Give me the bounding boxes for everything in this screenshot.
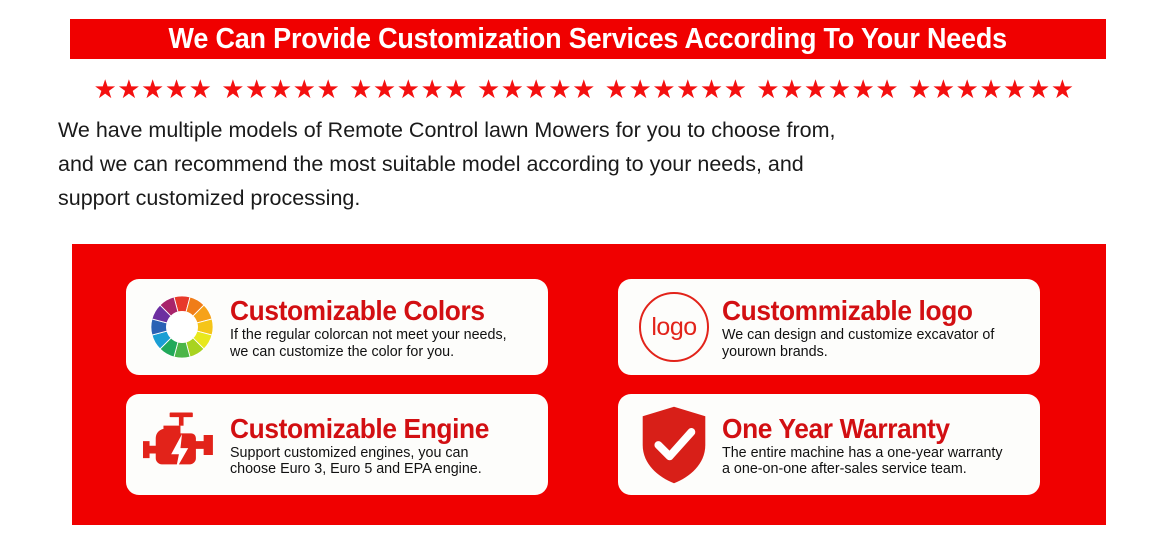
card-description: We can design and customize excavator of… — [722, 327, 1030, 360]
card-desc-line-1: Support customized engines, you can — [230, 445, 538, 462]
feature-card-one-year-warranty[interactable]: One Year Warranty The entire machine has… — [618, 394, 1040, 495]
card-title: Custommizable logo — [722, 296, 1012, 325]
logo-circle-icon: logo — [632, 288, 716, 366]
card-description: Support customized engines, you can choo… — [230, 445, 538, 478]
intro-line-2: and we can recommend the most suitable m… — [58, 147, 1120, 181]
card-desc-line-2: a one-on-one after-sales service team. — [722, 461, 1030, 478]
intro-line-1: We have multiple models of Remote Contro… — [58, 113, 1120, 147]
title-banner-text: We Can Provide Customization Services Ac… — [169, 24, 1007, 54]
star-rating-divider: ★★★★★ ★★★★★ ★★★★★ ★★★★★ ★★★★★★ ★★★★★★ ★★… — [0, 76, 1168, 104]
feature-card-customizable-engine[interactable]: Customizable Engine Support customized e… — [126, 394, 548, 495]
card-description: If the regular colorcan not meet your ne… — [230, 327, 538, 360]
card-title: Customizable Colors — [230, 296, 520, 325]
feature-card-grid: Customizable Colors If the regular color… — [126, 279, 1028, 492]
card-body: Custommizable logo We can design and cus… — [722, 294, 1030, 360]
card-desc-line-2: choose Euro 3, Euro 5 and EPA engine. — [230, 461, 538, 478]
card-desc-line-1: If the regular colorcan not meet your ne… — [230, 327, 538, 344]
feature-card-custommizable-logo[interactable]: logo Custommizable logo We can design an… — [618, 279, 1040, 375]
shield-check-icon — [632, 406, 716, 484]
card-desc-line-1: The entire machine has a one-year warran… — [722, 445, 1030, 462]
intro-line-3: support customized processing. — [58, 181, 1120, 215]
card-body: One Year Warranty The entire machine has… — [722, 412, 1030, 478]
card-desc-line-2: we can customize the color for you. — [230, 344, 538, 361]
card-description: The entire machine has a one-year warran… — [722, 445, 1030, 478]
logo-icon-label: logo — [651, 313, 696, 342]
card-body: Customizable Engine Support customized e… — [230, 412, 538, 478]
title-banner: We Can Provide Customization Services Ac… — [70, 19, 1106, 59]
feature-panel: Customizable Colors If the regular color… — [72, 244, 1106, 525]
card-body: Customizable Colors If the regular color… — [230, 294, 538, 360]
card-title: One Year Warranty — [722, 414, 1012, 443]
feature-card-customizable-colors[interactable]: Customizable Colors If the regular color… — [126, 279, 548, 375]
card-desc-line-2: yourown brands. — [722, 344, 1030, 361]
card-title: Customizable Engine — [230, 414, 520, 443]
color-wheel-icon — [140, 288, 224, 366]
logo-circle-shape: logo — [639, 292, 709, 362]
promo-page: We Can Provide Customization Services Ac… — [0, 0, 1168, 544]
intro-paragraph: We have multiple models of Remote Contro… — [58, 113, 1120, 215]
engine-icon — [140, 406, 224, 484]
card-desc-line-1: We can design and customize excavator of — [722, 327, 1030, 344]
